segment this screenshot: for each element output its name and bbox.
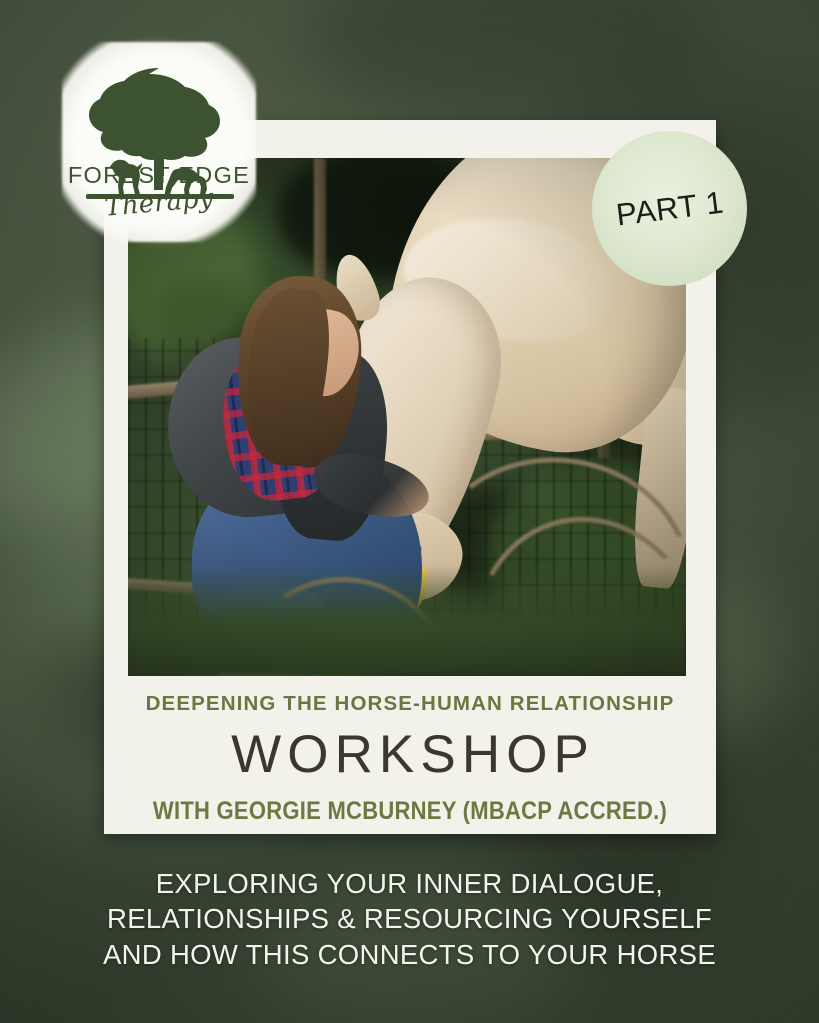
forest-edge-logo: FOREST EDGE Therapy	[62, 42, 256, 242]
workshop-poster: DEEPENING THE HORSE-HUMAN RELATIONSHIP W…	[0, 0, 819, 1023]
kicker-text: DEEPENING THE HORSE-HUMAN RELATIONSHIP	[104, 692, 716, 716]
card-text-block: DEEPENING THE HORSE-HUMAN RELATIONSHIP W…	[104, 692, 716, 826]
part-badge: PART 1	[592, 131, 747, 286]
page-title: WORKSHOP	[104, 728, 716, 781]
caption-line-3: AND HOW THIS CONNECTS TO YOUR HORSE	[0, 937, 819, 972]
presenter-byline: WITH GEORGIE MCBURNEY (MBACP ACCRED.)	[141, 797, 680, 826]
poster-caption: EXPLORING YOUR INNER DIALOGUE, RELATIONS…	[0, 866, 819, 972]
caption-line-1: EXPLORING YOUR INNER DIALOGUE,	[0, 866, 819, 901]
caption-line-2: RELATIONSHIPS & RESOURCING YOURSELF	[0, 901, 819, 936]
part-badge-label: PART 1	[614, 184, 725, 233]
